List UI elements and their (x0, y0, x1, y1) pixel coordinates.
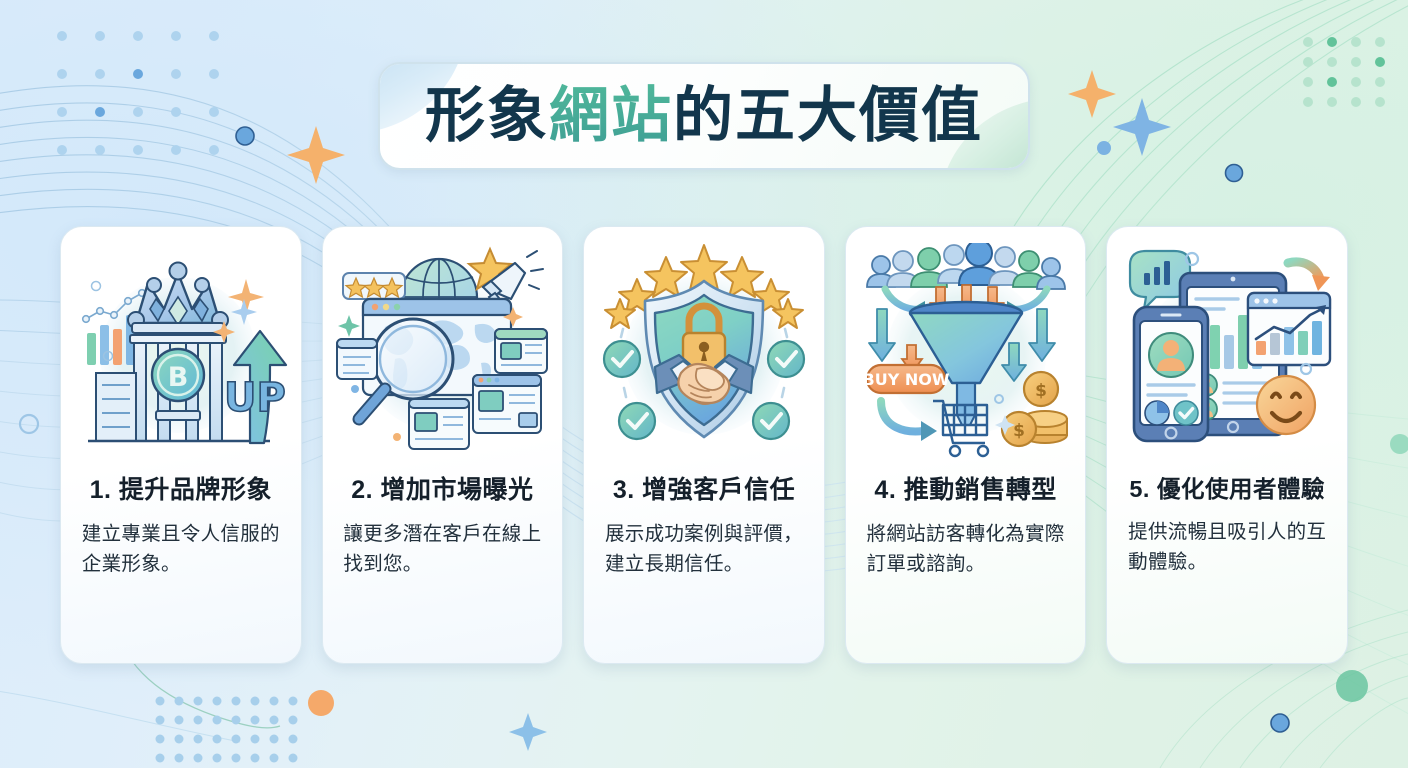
phone-avatar (1149, 333, 1193, 377)
page-title-prefix: 形象 (425, 81, 549, 151)
check-circle-bottom-right (753, 403, 789, 439)
sales-funnel-conversion-icon: BUY NOW $ (859, 243, 1073, 459)
page-title-highlight: 網站 (549, 81, 673, 151)
value-card-1[interactable]: B UP 1. 提升品牌形象 建立專業且令人信服的企業形象。 (60, 226, 302, 664)
check-circle-top-left (604, 341, 640, 377)
value-card-3[interactable]: 3. 增強客戶信任 展示成功案例與評價，建立長期信任。 (583, 226, 825, 664)
card-title-4: 4. 推動銷售轉型 (874, 477, 1056, 505)
check-circle-bottom-left (619, 403, 655, 439)
card-title-1: 1. 提升品牌形象 (90, 477, 272, 505)
page-title: 形象網站的五大價值 (425, 86, 983, 146)
value-card-2[interactable]: 2. 增加市場曝光 讓更多潛在客戶在線上找到您。 (322, 226, 564, 664)
multi-device-experience-icon (1120, 243, 1334, 459)
value-cards-row: B UP 1. 提升品牌形象 建立專業且令人信服的企業形象。 (60, 226, 1348, 664)
swoosh-arrow-icon (1288, 262, 1330, 291)
up-label: UP (224, 375, 286, 421)
card-desc-1: 建立專業且令人信服的企業形象。 (82, 519, 280, 579)
card-desc-5: 提供流暢且吸引人的互動體驗。 (1128, 517, 1326, 577)
shield-handshake-trust-icon (597, 243, 811, 459)
page-title-container: 形象網站的五大價值 (378, 62, 1030, 170)
star-rating-badge (343, 273, 405, 299)
user-avatars-row (867, 243, 1065, 289)
global-search-exposure-icon (335, 243, 549, 459)
card-desc-3: 展示成功案例與評價，建立長期信任。 (605, 519, 803, 579)
content-card-right-top (495, 329, 547, 373)
crown-building-growth-icon: B UP (74, 243, 288, 459)
buy-now-button: BUY NOW (862, 365, 949, 393)
page-title-suffix: 的五大價值 (673, 81, 983, 151)
svg-text:$: $ (1035, 381, 1047, 401)
svg-text:BUY NOW: BUY NOW (862, 370, 949, 389)
svg-text:$: $ (1013, 421, 1025, 441)
content-card-bottom (409, 399, 469, 449)
smartphone-device (1134, 307, 1208, 441)
value-card-4[interactable]: BUY NOW $ (845, 226, 1087, 664)
check-circle-top-right (768, 341, 804, 377)
content-card-right-bottom (473, 375, 541, 433)
smiley-face-icon (1257, 376, 1315, 434)
card-title-2: 2. 增加市場曝光 (351, 477, 533, 505)
card-title-5: 5. 優化使用者體驗 (1129, 477, 1325, 503)
card-desc-2: 讓更多潛在客戶在線上找到您。 (343, 519, 541, 579)
card-desc-4: 將網站訪客轉化為實際訂單或諮詢。 (867, 519, 1065, 579)
phone-pie-chart (1145, 401, 1169, 425)
phone-check-badge (1174, 401, 1198, 425)
content-card-left (337, 339, 377, 379)
value-card-5[interactable]: 5. 優化使用者體驗 提供流暢且吸引人的互動體驗。 (1106, 226, 1348, 664)
svg-text:B: B (168, 362, 189, 393)
browser-window-linechart (1248, 293, 1330, 365)
page-title-box: 形象網站的五大價值 (378, 62, 1030, 170)
bitcoin-coin-icon: B (152, 349, 204, 401)
card-title-3: 3. 增強客戶信任 (613, 477, 795, 505)
crown-shape (128, 263, 228, 334)
